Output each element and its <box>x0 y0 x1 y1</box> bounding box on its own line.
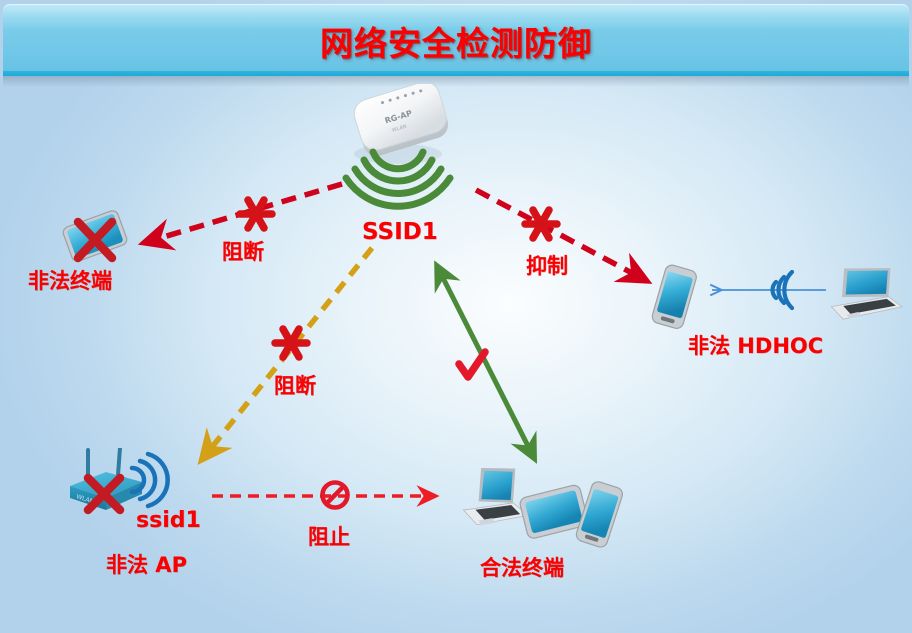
no-entry-marker <box>323 483 348 508</box>
diagram-canvas: 网络安全检测防御 <box>0 0 912 633</box>
devices-group-icon <box>455 462 635 554</box>
node-rogue-adhoc-laptop[interactable] <box>822 262 906 332</box>
star-block-marker-top-left <box>240 200 272 228</box>
link-label-prevent: 阻止 <box>308 521 350 551</box>
star-block-marker-bottom-left <box>275 329 307 357</box>
link-block-rogue-ap <box>212 248 372 447</box>
link-allow-legit-terminals <box>438 268 528 446</box>
tablet-icon <box>50 200 140 272</box>
node-rogue-adhoc-phone[interactable] <box>645 262 705 338</box>
rogue-terminal-label: 非法终端 <box>28 265 112 295</box>
wireless-access-point-icon: RG-AP WLAN <box>340 84 480 214</box>
legit-terminals-label: 合法终端 <box>480 552 564 582</box>
rogue-adhoc-label: 非法 HDHOC <box>688 330 823 360</box>
smartphone-icon <box>645 262 705 334</box>
node-central-ap[interactable]: RG-AP WLAN <box>340 84 480 218</box>
wifi-arcs-marker-adhoc <box>773 272 792 308</box>
laptop-icon <box>822 262 906 328</box>
signal-arcs-icon <box>132 454 168 506</box>
rogue-ap-label: 非法 AP <box>106 549 187 579</box>
node-legit-terminals[interactable] <box>455 462 635 558</box>
check-allow-marker <box>459 352 485 377</box>
link-label-suppress: 抑制 <box>526 250 568 280</box>
title-bar: 网络安全检测防御 <box>3 4 909 76</box>
page-title: 网络安全检测防御 <box>3 17 909 65</box>
link-block-rogue-terminal <box>160 184 342 238</box>
star-block-marker-right <box>525 210 557 238</box>
rogue-ap-ssid-label: ssid1 <box>136 508 201 533</box>
link-label-block-top-left: 阻断 <box>222 236 264 266</box>
link-label-block-bottom-left: 阻断 <box>274 370 316 400</box>
ssid-label-central: SSID1 <box>362 219 438 245</box>
